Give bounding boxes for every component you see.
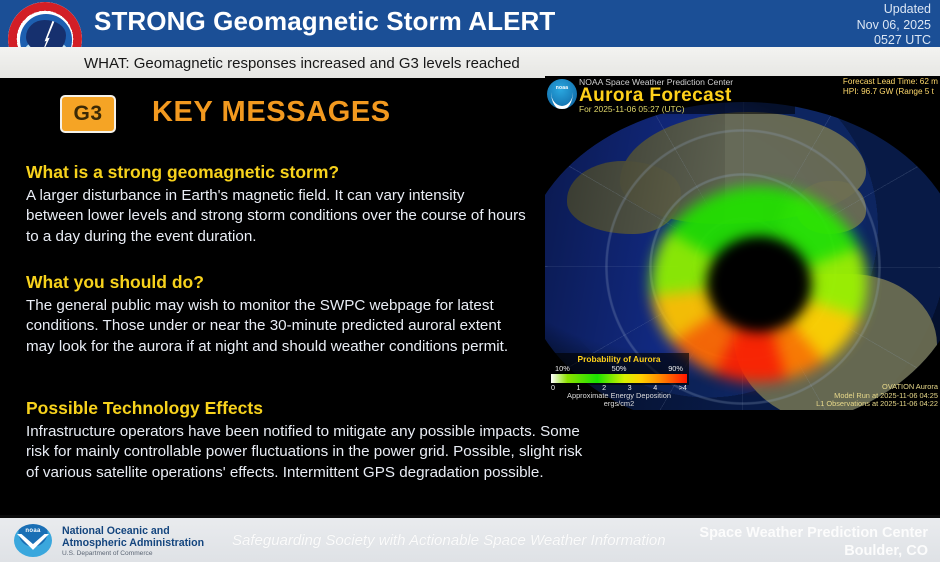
section-body: The general public may wish to monitor t…: [26, 296, 526, 357]
key-message-section: Possible Technology Effects Infrastructu…: [26, 398, 586, 483]
center-block: Space Weather Prediction Center Boulder,…: [699, 525, 928, 560]
department-line: U.S. Department of Commerce: [62, 550, 153, 557]
section-heading: What is a strong geomagnetic storm?: [26, 162, 526, 183]
section-heading: What you should do?: [26, 272, 526, 293]
updated-block: Updated Nov 06, 2025 0527 UTC: [857, 2, 931, 49]
noaa-badge-text: noaa: [547, 85, 577, 91]
storm-scale-label: G3: [73, 102, 102, 126]
legend-colorbar: [551, 374, 687, 383]
legend-tick: 50%: [612, 364, 627, 373]
agency-name: National Oceanic and Atmospheric Adminis…: [62, 525, 204, 549]
updated-label: Updated: [857, 2, 931, 18]
center-name: Space Weather Prediction Center: [699, 525, 928, 543]
noaa-logo-text: noaa: [14, 528, 52, 534]
section-body: A larger disturbance in Earth's magnetic…: [26, 186, 526, 247]
key-messages-title: KEY MESSAGES: [152, 96, 391, 129]
key-message-section: What you should do? The general public m…: [26, 272, 526, 357]
legend-tick: >4: [679, 383, 687, 392]
l1-observation-time: L1 Observations at 2025-11-06 04:22: [816, 400, 938, 409]
legend-probability-ticks: 10% 50% 90%: [549, 364, 689, 373]
what-text: WHAT: Geomagnetic responses increased an…: [84, 55, 520, 72]
key-message-section: What is a strong geomagnetic storm? A la…: [26, 162, 526, 247]
aurora-model-credits: OVATION Aurora Model Run at 2025-11-06 0…: [816, 383, 938, 409]
legend-energy-units: ergs/cm2: [549, 400, 689, 408]
legend-tick: 10%: [555, 364, 570, 373]
tagline: Safeguarding Society with Actionable Spa…: [232, 532, 666, 549]
alert-graphic: NATIONAL WEATHER SERVICE STRONG Geomagne…: [0, 0, 940, 562]
section-body: Infrastructure operators have been notif…: [26, 422, 586, 483]
noaa-logo-icon: noaa: [14, 522, 54, 559]
legend-tick: 0: [551, 383, 555, 392]
storm-scale-badge: G3: [60, 95, 116, 133]
legend-tick: 90%: [668, 364, 683, 373]
key-messages-panel: G3 KEY MESSAGES What is a strong geomagn…: [0, 78, 545, 515]
noaa-badge-icon: noaa: [547, 79, 577, 109]
aurora-legend: Probability of Aurora 10% 50% 90% 0 1 2 …: [549, 353, 689, 408]
hemispheric-power: HPI: 96.7 GW (Range 5 t: [843, 87, 938, 97]
aurora-valid-time: For 2025-11-06 05:27 (UTC): [579, 104, 685, 114]
aurora-forecast-map: noaa NOAA Space Weather Prediction Cente…: [545, 76, 940, 410]
section-heading: Possible Technology Effects: [26, 398, 586, 419]
agency-name-line2: Atmospheric Administration: [62, 537, 204, 549]
updated-date: Nov 06, 2025: [857, 18, 931, 34]
page-title: STRONG Geomagnetic Storm ALERT: [94, 6, 555, 37]
agency-name-line1: National Oceanic and: [62, 525, 204, 537]
center-location: Boulder, CO: [699, 543, 928, 561]
footer: noaa National Oceanic and Atmospheric Ad…: [0, 518, 940, 562]
forecast-lead-time: Forecast Lead Time: 62 m: [843, 77, 938, 87]
legend-title: Probability of Aurora: [549, 353, 689, 364]
forecast-lead-block: Forecast Lead Time: 62 m HPI: 96.7 GW (R…: [843, 77, 938, 96]
